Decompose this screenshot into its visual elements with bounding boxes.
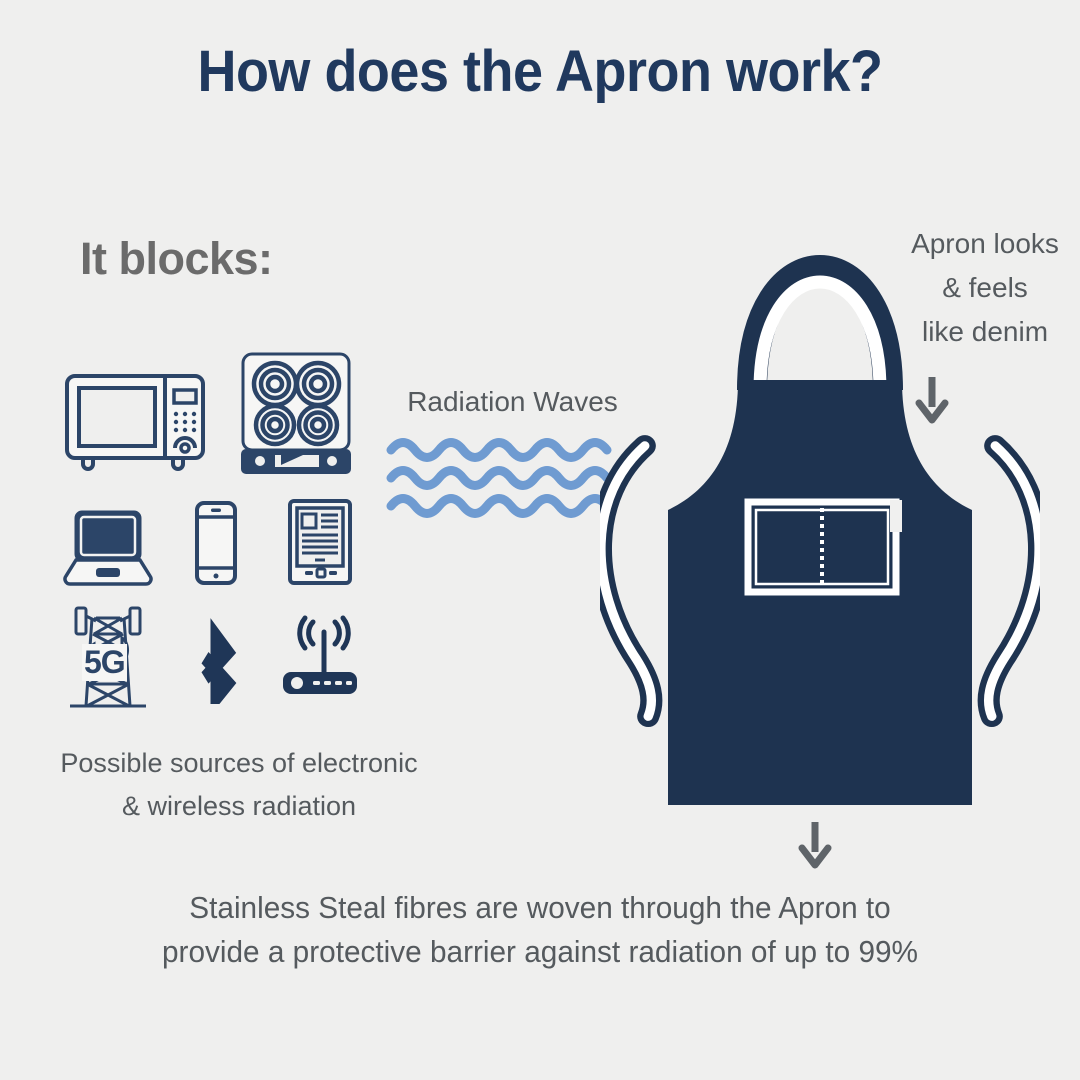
5g-badge: 5G: [82, 644, 127, 681]
radiation-waves-label: Radiation Waves: [390, 386, 635, 418]
footer-line1: Stainless Steal fibres are woven through…: [156, 886, 924, 930]
cell-tower-5g-icon: 5G: [52, 590, 164, 720]
footer-line2: provide a protective barrier against rad…: [156, 930, 924, 974]
sources-caption-line1: Possible sources of electronic: [0, 742, 478, 785]
bottom-down-arrow-icon: [795, 820, 835, 875]
blocked-devices-grid: 5G: [52, 338, 372, 720]
sources-caption-line2: & wireless radiation: [0, 785, 478, 828]
stove-icon: [220, 338, 372, 478]
denim-note-line1: Apron looks: [890, 222, 1080, 266]
device-row-2: [52, 486, 372, 586]
radiation-waves-graphic: [385, 432, 635, 527]
infographic-canvas: How does the Apron work? It blocks:: [0, 0, 1080, 1080]
microwave-icon: [52, 338, 220, 478]
denim-note: Apron looks & feels like denim: [890, 222, 1080, 354]
wifi-router-icon: [268, 590, 372, 720]
denim-note-line2: & feels: [890, 266, 1080, 310]
ereader-icon: [268, 486, 372, 586]
smartphone-icon: [164, 486, 268, 586]
it-blocks-heading: It blocks:: [80, 233, 273, 285]
laptop-icon: [52, 486, 164, 586]
denim-note-line3: like denim: [890, 310, 1080, 354]
device-row-1: [52, 338, 372, 478]
sources-caption: Possible sources of electronic & wireles…: [0, 742, 478, 828]
bluetooth-icon: [164, 590, 268, 720]
device-row-3: 5G: [52, 590, 372, 720]
page-title: How does the Apron work?: [38, 38, 1042, 105]
footer-text: Stainless Steal fibres are woven through…: [156, 886, 924, 974]
denim-down-arrow-icon: [912, 375, 952, 430]
